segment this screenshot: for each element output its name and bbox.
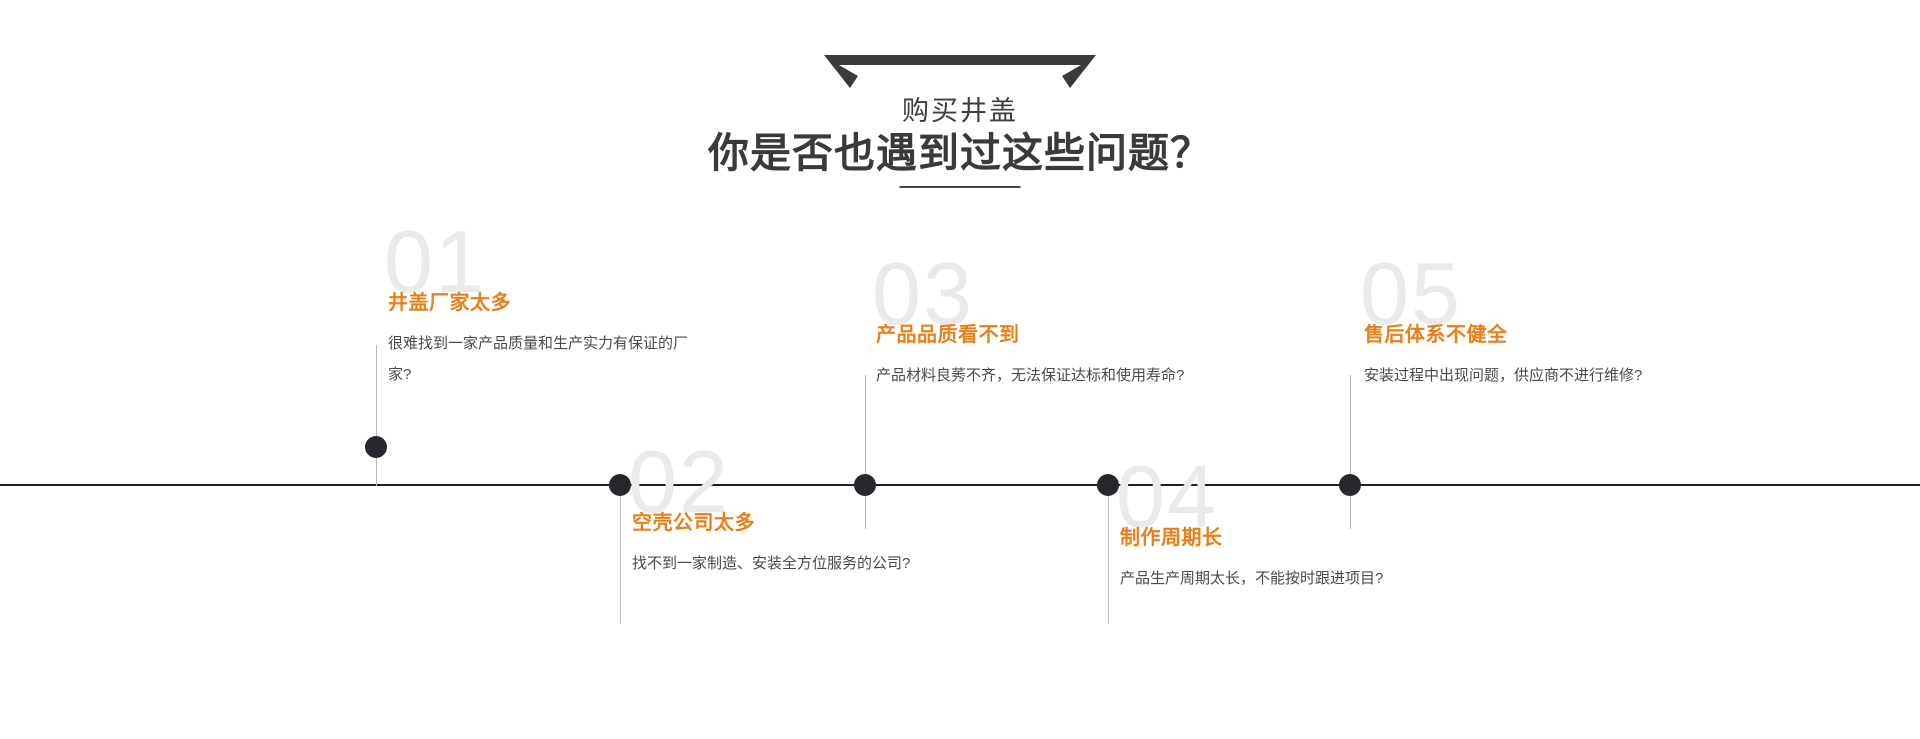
problem-desc-05: 安装过程中出现问题，供应商不进行维修? [1364, 360, 1684, 391]
page-eyebrow: 购买井盖 [0, 94, 1920, 128]
problem-item-01: 01 井盖厂家太多 很难找到一家产品质量和生产实力有保证的厂家? [388, 290, 718, 390]
problem-title-02: 空壳公司太多 [632, 510, 962, 536]
connector-stem-01 [376, 345, 377, 486]
page-root: 购买井盖 你是否也遇到过这些问题？ 01 井盖厂家太多 很难找到一家产品质量和生… [0, 0, 1920, 739]
bracket-banner-icon [824, 55, 1096, 89]
timeline-node-01[interactable] [365, 436, 387, 458]
problem-title-05: 售后体系不健全 [1364, 322, 1694, 348]
title-underline [900, 186, 1021, 188]
connector-stem-05 [1350, 375, 1351, 529]
page-title: 你是否也遇到过这些问题？ [0, 127, 1920, 179]
timeline-node-03[interactable] [854, 474, 876, 496]
timeline-node-05[interactable] [1339, 474, 1361, 496]
problem-item-05: 05 售后体系不健全 安装过程中出现问题，供应商不进行维修? [1364, 322, 1694, 391]
problem-item-03: 03 产品品质看不到 产品材料良莠不齐，无法保证达标和使用寿命? [876, 322, 1206, 391]
connector-stem-03 [865, 375, 866, 529]
connector-stem-04 [1108, 485, 1109, 624]
problem-desc-04: 产品生产周期太长，不能按时跟进项目? [1120, 563, 1440, 594]
problem-title-01: 井盖厂家太多 [388, 290, 718, 316]
problem-desc-01: 很难找到一家产品质量和生产实力有保证的厂家? [388, 328, 708, 390]
problem-item-02: 02 空壳公司太多 找不到一家制造、安装全方位服务的公司? [632, 510, 962, 579]
problem-desc-03: 产品材料良莠不齐，无法保证达标和使用寿命? [876, 360, 1196, 391]
problem-item-04: 04 制作周期长 产品生产周期太长，不能按时跟进项目? [1120, 525, 1450, 594]
connector-stem-02 [620, 485, 621, 624]
problem-desc-02: 找不到一家制造、安装全方位服务的公司? [632, 548, 952, 579]
problem-title-03: 产品品质看不到 [876, 322, 1206, 348]
timeline-node-04[interactable] [1097, 474, 1119, 496]
timeline-node-02[interactable] [609, 474, 631, 496]
timeline-axis [0, 484, 1920, 486]
problem-title-04: 制作周期长 [1120, 525, 1450, 551]
